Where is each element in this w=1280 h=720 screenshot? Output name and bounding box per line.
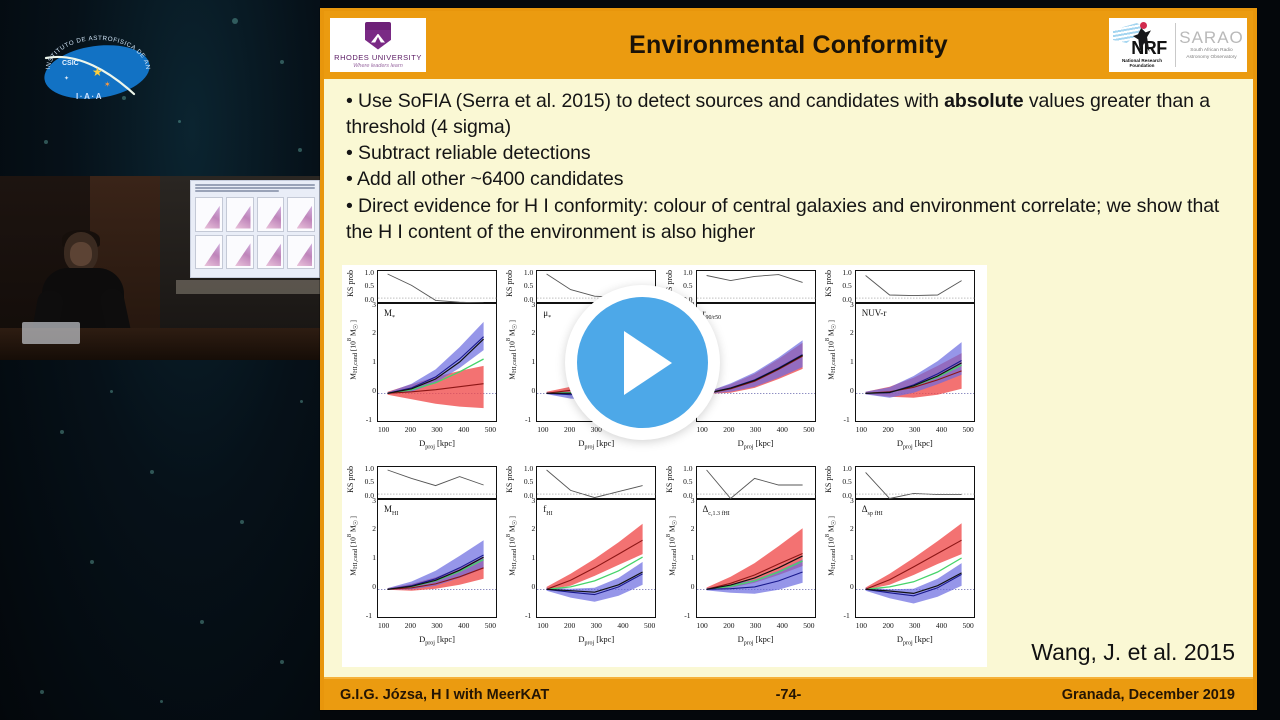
projected-plot-cell [287, 235, 315, 270]
ks-subplot [377, 466, 497, 499]
x-tick: 300 [431, 425, 442, 434]
x-tick: 500 [644, 621, 655, 630]
y-tick: 1 [517, 553, 535, 562]
slide-header: RHODES UNIVERSITY Where leaders learn En… [324, 11, 1253, 79]
x-tick: 100 [856, 425, 867, 434]
star [280, 60, 284, 64]
ks-axis-label: KS prob [505, 270, 514, 297]
rhodes-university-logo: RHODES UNIVERSITY Where leaders learn [330, 18, 426, 72]
y-tick: -1 [673, 611, 691, 620]
panel-title-fhi: fHI [543, 504, 552, 517]
projected-plot-cell [257, 235, 285, 270]
x-tick: 300 [431, 621, 442, 630]
chart-panel-delta_c13_fhi: KS prob 1.0 0.5 0.0 MHI,cand [108 M☉] 3 … [665, 464, 822, 660]
bullet-1: • Use SoFIA (Serra et al. 2015) to detec… [346, 88, 1233, 140]
x-tick: 200 [405, 425, 416, 434]
sarao-wordmark: SARAO [1179, 29, 1244, 46]
ks-ytick: 0.5 [515, 281, 533, 290]
ks-ytick: 0.5 [675, 477, 693, 486]
y-tick: 2 [358, 524, 376, 533]
x-tick: 100 [697, 621, 708, 630]
slide-body-text: • Use SoFIA (Serra et al. 2015) to detec… [324, 79, 1253, 245]
x-tick-labels: 100200300400500 [696, 425, 816, 434]
y-tick: -1 [513, 611, 531, 620]
rhodes-logo-name: RHODES UNIVERSITY [334, 53, 422, 62]
starfield-background [0, 0, 320, 720]
x-axis-label: Dproj [kpc] [696, 438, 816, 451]
presenter-video-panel[interactable]: INSTITUTO DE ASTROFISICA DE ANDALUCIA CS… [0, 0, 320, 720]
ks-subplot [536, 466, 656, 499]
iaa-csic-label: CSIC [62, 60, 79, 67]
projected-slide-heading-lines [195, 184, 315, 193]
x-tick: 300 [750, 621, 761, 630]
y-tick: 2 [517, 328, 535, 337]
x-tick: 500 [485, 425, 496, 434]
y-tick: -1 [832, 611, 850, 620]
ks-ytick: 0.5 [834, 281, 852, 290]
projected-plot-cell [287, 197, 315, 232]
ks-ytick: 0.5 [834, 477, 852, 486]
play-button[interactable] [565, 285, 720, 440]
star [298, 148, 302, 152]
nrf-sarao-logo: NRF National ResearchFoundation SARAO So… [1109, 18, 1247, 72]
ks-ytick: 0.5 [356, 477, 374, 486]
ks-axis-label: KS prob [505, 466, 514, 493]
x-tick: 400 [777, 621, 788, 630]
rhodes-logo-tagline: Where leaders learn [353, 63, 403, 69]
projected-slide-plot-grid [195, 197, 315, 269]
star [110, 390, 113, 393]
sarao-subtitle: South African RadioAstronomy Observatory [1186, 48, 1236, 60]
ks-ytick: 1.0 [515, 464, 533, 473]
main-subplot: fHI [536, 499, 656, 618]
x-tick: 200 [723, 425, 734, 434]
y-tick: 3 [358, 496, 376, 505]
chart-panel-mhi: KS prob 1.0 0.5 0.0 MHI,cand [108 M☉] 3 … [346, 464, 503, 660]
speaker-face [70, 242, 92, 266]
chart-panel-delta_sp_fhi: KS prob 1.0 0.5 0.0 MHI,cand [108 M☉] 3 … [824, 464, 981, 660]
main-subplot: Δsp fHI [855, 499, 975, 618]
star [232, 18, 238, 24]
x-tick: 300 [591, 621, 602, 630]
star [280, 660, 284, 664]
ks-axis-label: KS prob [824, 466, 833, 493]
y-tick: 3 [836, 496, 854, 505]
figure-citation: Wang, J. et al. 2015 [1031, 639, 1235, 666]
x-tick-labels: 100200300400500 [377, 425, 497, 434]
x-axis-label: Dproj [kpc] [696, 634, 816, 647]
y-tick: 2 [836, 328, 854, 337]
y-tick: 2 [836, 524, 854, 533]
panel-title-mstar: M* [384, 308, 395, 321]
nrf-human-figure-icon [1131, 22, 1153, 52]
x-tick: 200 [882, 621, 893, 630]
panel-title-delta_c13_fhi: Δc,1.3 fHI [703, 504, 730, 517]
y-tick: 0 [677, 582, 695, 591]
ks-axis-label: KS prob [824, 270, 833, 297]
iaa-orange-star-glyph: ✶ [104, 81, 111, 89]
y-tick: 1 [836, 357, 854, 366]
y-tick: 1 [358, 357, 376, 366]
iaa-small-star-glyph: ✦ [64, 76, 69, 82]
x-axis-label: Dproj [kpc] [536, 634, 656, 647]
star [60, 430, 64, 434]
ks-subplot [696, 270, 816, 303]
x-tick: 500 [485, 621, 496, 630]
ks-ytick: 1.0 [675, 464, 693, 473]
main-subplot: Δc,1.3 fHI [696, 499, 816, 618]
x-tick: 200 [564, 425, 575, 434]
panel-title-mhi: MHI [384, 504, 398, 517]
star [178, 120, 181, 123]
x-tick: 400 [458, 621, 469, 630]
bullet-2: • Subtract reliable detections [346, 140, 1233, 166]
x-tick: 100 [856, 621, 867, 630]
x-axis-label: Dproj [kpc] [377, 634, 497, 647]
y-tick: 1 [836, 553, 854, 562]
x-tick-labels: 100200300400500 [855, 425, 975, 434]
projection-screen [190, 180, 320, 278]
bullet-4: • Direct evidence for H I conformity: co… [346, 193, 1233, 245]
y-tick: 2 [677, 524, 695, 533]
y-tick: 2 [517, 524, 535, 533]
y-tick: 3 [517, 300, 535, 309]
ks-ytick: 1.0 [675, 268, 693, 277]
x-tick-labels: 100200300400500 [855, 621, 975, 630]
ks-subplot [855, 466, 975, 499]
iaa-institute-logo: INSTITUTO DE ASTROFISICA DE ANDALUCIA CS… [38, 28, 158, 108]
y-tick: 0 [836, 582, 854, 591]
ks-ytick: 1.0 [356, 464, 374, 473]
x-tick: 200 [564, 621, 575, 630]
play-button-disc[interactable] [577, 297, 708, 428]
x-tick: 100 [537, 621, 548, 630]
panel-title-delta_sp_fhi: Δsp fHI [862, 504, 883, 517]
projected-plot-cell [226, 197, 254, 232]
x-tick-labels: 100200300400500 [536, 621, 656, 630]
x-tick: 100 [378, 621, 389, 630]
x-tick-labels: 100200300400500 [696, 621, 816, 630]
x-tick: 100 [378, 425, 389, 434]
screen-mount [176, 280, 320, 294]
x-tick: 400 [458, 425, 469, 434]
y-tick: 0 [358, 582, 376, 591]
ks-ytick: 1.0 [834, 268, 852, 277]
projected-plot-cell [226, 235, 254, 270]
y-tick: -1 [513, 415, 531, 424]
presentation-slide: RHODES UNIVERSITY Where leaders learn En… [320, 8, 1257, 710]
x-tick: 100 [697, 425, 708, 434]
x-tick: 500 [803, 621, 814, 630]
panel-title-mustar: μ* [543, 308, 551, 321]
star [160, 700, 163, 703]
figure-row-bottom: KS prob 1.0 0.5 0.0 MHI,cand [108 M☉] 3 … [346, 464, 983, 660]
ks-ytick: 1.0 [834, 464, 852, 473]
main-subplot: MHI [377, 499, 497, 618]
ks-subplot [696, 466, 816, 499]
chart-panel-nuvr: KS prob 1.0 0.5 0.0 MHI,cand [108 M☉] 3 … [824, 268, 981, 464]
slide-footer: G.I.G. Józsa, H I with MeerKAT -74- Gran… [324, 677, 1253, 710]
y-tick: 1 [358, 553, 376, 562]
star [90, 560, 94, 564]
bullet-3: • Add all other ~6400 candidates [346, 166, 1233, 192]
svg-text:INSTITUTO DE ASTROFISICA DE AN: INSTITUTO DE ASTROFISICA DE ANDALUCIA [38, 28, 151, 70]
y-tick: 1 [677, 553, 695, 562]
x-tick: 200 [723, 621, 734, 630]
ks-ytick: 1.0 [515, 268, 533, 277]
x-tick: 400 [936, 425, 947, 434]
star [44, 140, 48, 144]
y-tick: 0 [517, 386, 535, 395]
panel-title-nuvr: NUV-r [862, 308, 887, 318]
ks-ytick: 0.5 [515, 477, 533, 486]
x-tick-labels: 100200300400500 [377, 621, 497, 630]
y-tick: 3 [358, 300, 376, 309]
star [150, 470, 154, 474]
y-tick: 2 [358, 328, 376, 337]
x-tick: 500 [963, 621, 974, 630]
ks-axis-label: KS prob [346, 270, 355, 297]
y-tick: 3 [677, 496, 695, 505]
y-tick: 3 [517, 496, 535, 505]
y-tick: -1 [354, 611, 372, 620]
y-tick: -1 [354, 415, 372, 424]
main-subplot: M* [377, 303, 497, 422]
y-tick: 3 [836, 300, 854, 309]
x-tick: 400 [777, 425, 788, 434]
chart-panel-mstar: KS prob 1.0 0.5 0.0 MHI,cand [108 M☉] 3 … [346, 268, 503, 464]
star [200, 620, 204, 624]
play-triangle-icon [624, 331, 672, 395]
ks-ytick: 0.5 [675, 281, 693, 290]
screen: INSTITUTO DE ASTROFISICA DE ANDALUCIA CS… [0, 0, 1280, 720]
iaa-abbreviation: I·A·A [76, 92, 103, 101]
ks-axis-label: KS prob [665, 466, 674, 493]
x-tick: 500 [803, 425, 814, 434]
x-tick: 100 [537, 425, 548, 434]
x-axis-label: Dproj [kpc] [855, 634, 975, 647]
laptop [22, 322, 80, 344]
y-tick: 0 [836, 386, 854, 395]
x-tick: 300 [909, 425, 920, 434]
x-axis-label: Dproj [kpc] [377, 438, 497, 451]
y-tick: 0 [517, 582, 535, 591]
nrf-logo-block: NRF National ResearchFoundation [1109, 18, 1175, 72]
x-tick: 200 [882, 425, 893, 434]
footer-venue-date: Granada, December 2019 [1062, 687, 1235, 703]
x-tick: 500 [963, 425, 974, 434]
x-tick: 300 [909, 621, 920, 630]
nrf-subtitle: National ResearchFoundation [1122, 58, 1162, 69]
chart-panel-fhi: KS prob 1.0 0.5 0.0 MHI,cand [108 M☉] 3 … [505, 464, 662, 660]
ks-axis-label: KS prob [346, 466, 355, 493]
main-subplot: NUV-r [855, 303, 975, 422]
star [40, 690, 44, 694]
sarao-logo-block: SARAO South African RadioAstronomy Obser… [1176, 18, 1247, 72]
x-tick: 400 [617, 621, 628, 630]
projected-plot-cell [195, 235, 223, 270]
projected-plot-cell [195, 197, 223, 232]
ks-subplot [377, 270, 497, 303]
x-tick: 200 [405, 621, 416, 630]
projected-plot-cell [257, 197, 285, 232]
star [240, 520, 244, 524]
iaa-star-glyph: ★ [92, 66, 103, 78]
ks-ytick: 0.5 [356, 281, 374, 290]
y-tick: -1 [832, 415, 850, 424]
x-tick: 400 [936, 621, 947, 630]
x-tick: 300 [750, 425, 761, 434]
y-tick: 1 [517, 357, 535, 366]
x-axis-label: Dproj [kpc] [855, 438, 975, 451]
rhodes-shield-icon [365, 22, 391, 50]
presenter-photo [0, 176, 320, 360]
y-tick: 0 [358, 386, 376, 395]
ks-ytick: 1.0 [356, 268, 374, 277]
star [300, 400, 303, 403]
ks-subplot [855, 270, 975, 303]
